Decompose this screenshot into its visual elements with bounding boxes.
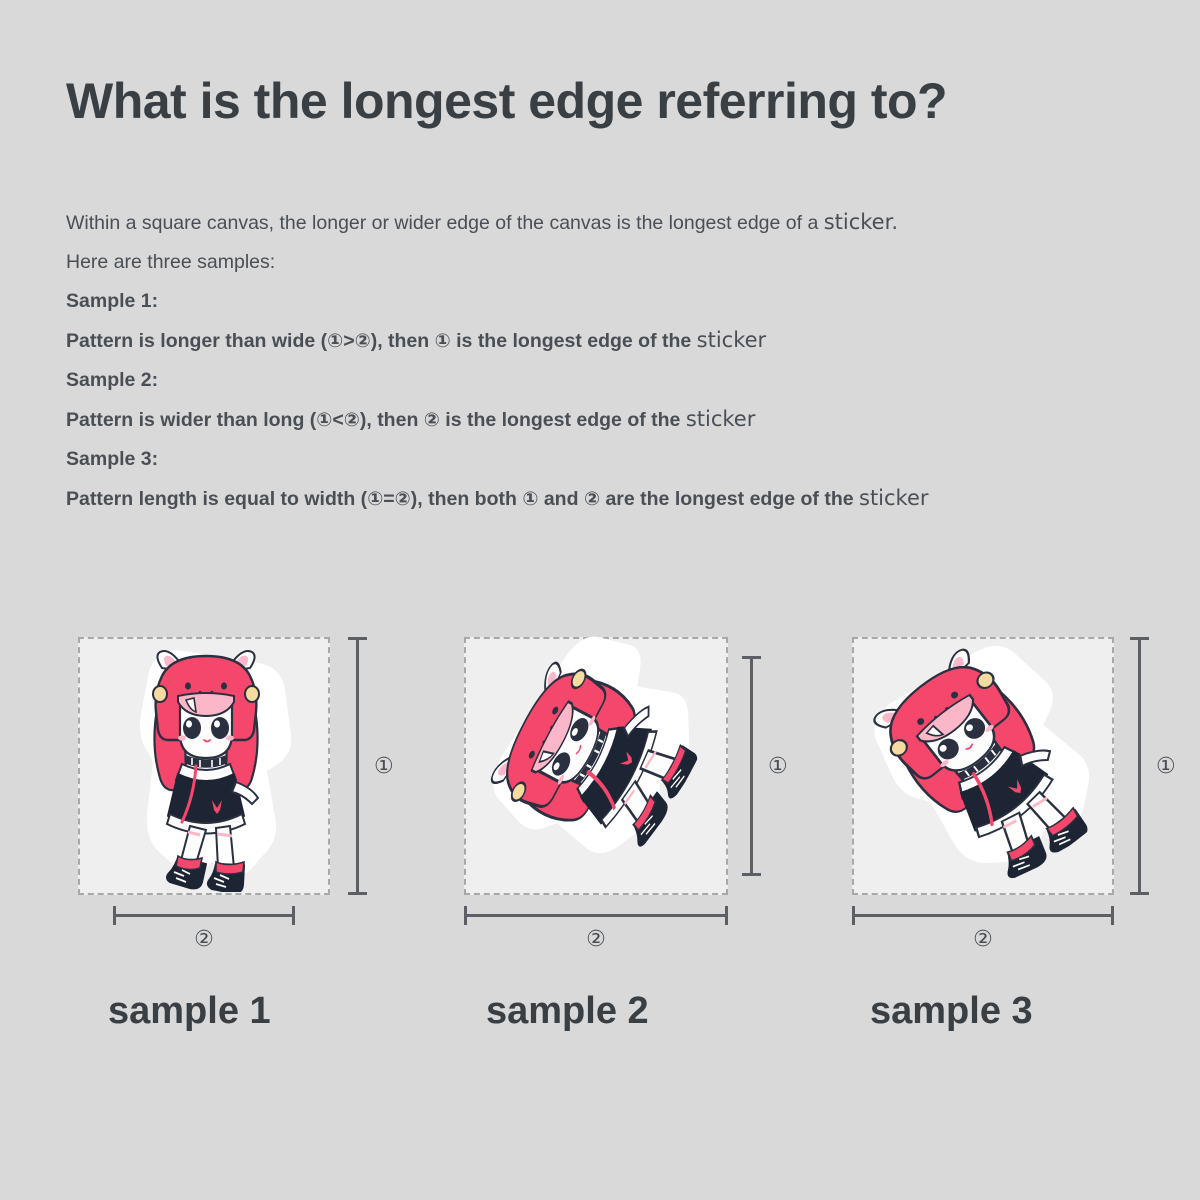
- sticker-art-sample-1: [116, 642, 296, 892]
- sample-3-description: Pattern length is equal to width (①=②), …: [66, 479, 1166, 519]
- sticker-art-sample-2: [470, 670, 720, 850]
- vertical-measure-line: [750, 656, 753, 876]
- sample-1-sticker-word: sticker: [697, 328, 767, 352]
- vertical-measure-line: [356, 637, 359, 895]
- sample-2-desc-a: Pattern is wider than long (: [66, 409, 316, 431]
- sample-3-marker-2: ②: [395, 489, 411, 510]
- figure-sample-2: ① ② sample 2: [452, 620, 792, 1050]
- sticker-illustration: [116, 642, 296, 892]
- sample-2-heading: Sample 2:: [66, 361, 1166, 400]
- vertical-measure-cap-bottom: [348, 892, 367, 895]
- figure-sample-1: ① ② sample 1: [66, 620, 396, 1050]
- sample-2-marker-1: ①: [316, 410, 332, 431]
- horizontal-measure-line: [113, 914, 295, 917]
- figure-sample-3: ① ② sample 3: [840, 620, 1180, 1050]
- sample-1-heading: Sample 1:: [66, 282, 1166, 321]
- caption-sample-3: sample 3: [870, 990, 1033, 1033]
- page-title: What is the longest edge referring to?: [66, 72, 947, 130]
- sample-3-desc-a: Pattern length is equal to width (: [66, 488, 367, 510]
- intro-line-2: Here are three samples:: [66, 243, 1166, 282]
- sample-3-marker-3: ①: [522, 489, 538, 510]
- sample-2-marker-2: ②: [344, 410, 360, 431]
- sample-1-marker-1: ①: [327, 331, 343, 352]
- sample-3-desc-b: ), then both: [411, 488, 523, 510]
- vertical-measure-badge: ①: [1156, 755, 1176, 777]
- sample-3-desc-d: are the longest edge of the: [600, 488, 859, 510]
- intro-line-1-text: Within a square canvas, the longer or wi…: [66, 212, 824, 234]
- explanation-block: Within a square canvas, the longer or wi…: [66, 203, 1166, 519]
- vertical-measure-cap-bottom: [1130, 892, 1149, 895]
- sample-3-heading: Sample 3:: [66, 440, 1166, 479]
- horizontal-measure-line: [464, 914, 728, 917]
- sample-3-sticker-word: sticker: [859, 486, 929, 510]
- vertical-measure-badge: ①: [768, 755, 788, 777]
- horizontal-measure-cap-right: [1111, 906, 1114, 925]
- vertical-measure-badge: ①: [374, 755, 394, 777]
- horizontal-measure-cap-right: [725, 906, 728, 925]
- sample-2-description: Pattern is wider than long (①<②), then ②…: [66, 400, 1166, 440]
- sample-1-desc-b: ), then: [371, 330, 435, 352]
- sample-2-marker-3: ②: [424, 410, 440, 431]
- sample-2-desc-b: ), then: [360, 409, 424, 431]
- horizontal-measure-badge: ②: [973, 928, 993, 950]
- intro-line-1-sticker-word: sticker.: [824, 210, 898, 234]
- vertical-measure-cap-bottom: [742, 873, 761, 876]
- sample-1-marker-3: ①: [435, 331, 451, 352]
- sample-1-desc-a: Pattern is longer than wide (: [66, 330, 327, 352]
- sample-1-marker-2: ②: [355, 331, 371, 352]
- samples-row: ① ② sample 1: [0, 620, 1200, 1100]
- sample-1-description: Pattern is longer than wide (①>②), then …: [66, 321, 1166, 361]
- intro-line-1: Within a square canvas, the longer or wi…: [66, 203, 1166, 243]
- caption-sample-2: sample 2: [486, 990, 649, 1033]
- page-root: What is the longest edge referring to? W…: [0, 0, 1200, 1200]
- vertical-measure-line: [1138, 637, 1141, 895]
- sample-2-operator: <: [332, 409, 343, 431]
- sample-3-desc-c: and: [538, 488, 584, 510]
- sample-3-marker-1: ①: [367, 489, 383, 510]
- sample-3-marker-4: ②: [584, 489, 600, 510]
- horizontal-measure-badge: ②: [586, 928, 606, 950]
- sample-2-sticker-word: sticker: [686, 407, 756, 431]
- sample-2-desc-c: is the longest edge of the: [440, 409, 686, 431]
- sample-3-operator: =: [383, 488, 394, 510]
- horizontal-measure-cap-right: [292, 906, 295, 925]
- caption-sample-1: sample 1: [108, 990, 271, 1033]
- sticker-art-sample-3: [876, 652, 1091, 882]
- sample-1-operator: >: [343, 330, 354, 352]
- horizontal-measure-badge: ②: [194, 928, 214, 950]
- horizontal-measure-line: [852, 914, 1114, 917]
- sample-1-desc-c: is the longest edge of the: [451, 330, 697, 352]
